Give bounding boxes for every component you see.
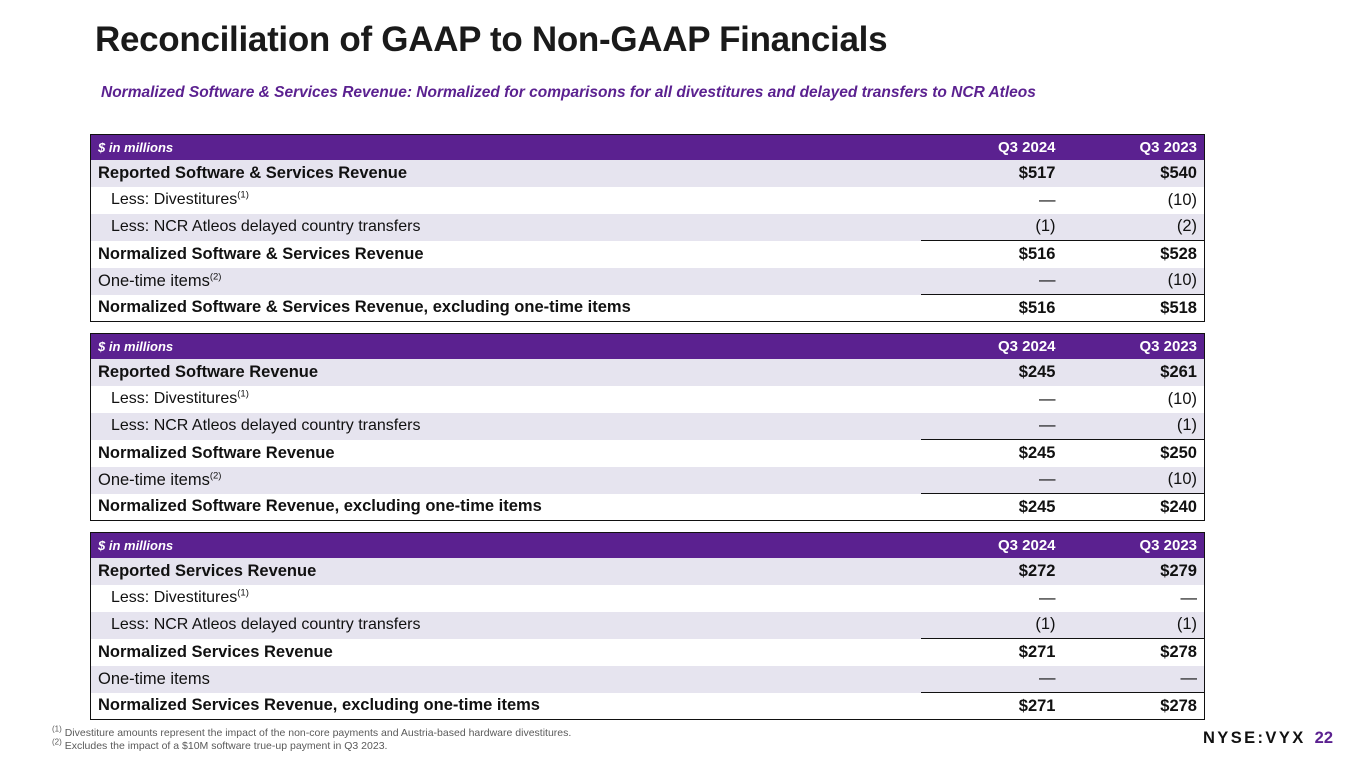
table-row: Reported Software Revenue$245$261 — [91, 359, 1205, 386]
table-unit-label: $ in millions — [91, 334, 921, 359]
row-value: (10) — [1063, 268, 1205, 295]
footnote-marker: (1) — [237, 588, 249, 599]
row-value: (1) — [921, 612, 1063, 639]
page-title: Reconciliation of GAAP to Non-GAAP Finan… — [95, 20, 887, 60]
table-header-row: $ in millionsQ3 2024Q3 2023 — [91, 533, 1205, 558]
row-label-text: Less: Divestitures — [111, 390, 237, 407]
row-value: $240 — [1063, 494, 1205, 521]
footnote-marker: (2) — [210, 271, 222, 282]
table-row: Less: NCR Atleos delayed country transfe… — [91, 214, 1205, 241]
row-label: Reported Services Revenue — [91, 558, 921, 585]
reconciliation-table: $ in millionsQ3 2024Q3 2023Reported Soft… — [90, 134, 1205, 322]
row-value: — — [921, 386, 1063, 413]
row-value: $245 — [921, 440, 1063, 467]
table-row: Normalized Software & Services Revenue$5… — [91, 241, 1205, 268]
row-value: $271 — [921, 693, 1063, 720]
row-label: Less: Divestitures(1) — [91, 386, 921, 413]
row-value: $278 — [1063, 639, 1205, 666]
row-value: $516 — [921, 295, 1063, 322]
row-label: One-time items — [91, 666, 921, 693]
row-label: Less: NCR Atleos delayed country transfe… — [91, 612, 921, 639]
footnote-marker: (1) — [237, 190, 249, 201]
row-value: $528 — [1063, 241, 1205, 268]
column-header: Q3 2023 — [1063, 334, 1205, 359]
row-label: Less: Divestitures(1) — [91, 187, 921, 214]
table-row: Less: Divestitures(1)—(10) — [91, 386, 1205, 413]
table-header-row: $ in millionsQ3 2024Q3 2023 — [91, 334, 1205, 359]
row-value: $271 — [921, 639, 1063, 666]
row-label: Reported Software & Services Revenue — [91, 160, 921, 187]
table-row: Normalized Services Revenue, excluding o… — [91, 693, 1205, 720]
row-value: — — [1063, 666, 1205, 693]
reconciliation-table: $ in millionsQ3 2024Q3 2023Reported Serv… — [90, 532, 1205, 720]
table-row: One-time items(2)—(10) — [91, 467, 1205, 494]
row-label: One-time items(2) — [91, 467, 921, 494]
row-label-text: Reported Software Revenue — [98, 363, 318, 381]
page-subtitle: Normalized Software & Services Revenue: … — [101, 84, 1036, 102]
column-header: Q3 2023 — [1063, 533, 1205, 558]
row-value: (1) — [1063, 413, 1205, 440]
row-value: — — [921, 187, 1063, 214]
row-label-text: Less: Divestitures — [111, 589, 237, 606]
slide-root: Reconciliation of GAAP to Non-GAAP Finan… — [0, 0, 1365, 768]
table-row: Reported Software & Services Revenue$517… — [91, 160, 1205, 187]
table-unit-label: $ in millions — [91, 533, 921, 558]
table-row: Less: NCR Atleos delayed country transfe… — [91, 413, 1205, 440]
column-header: Q3 2023 — [1063, 135, 1205, 160]
footnote-line: (1) Divestiture amounts represent the im… — [52, 727, 571, 740]
row-label-text: One-time items — [98, 670, 210, 688]
row-label-text: Normalized Services Revenue, excluding o… — [98, 696, 540, 714]
table-row: Normalized Services Revenue$271$278 — [91, 639, 1205, 666]
row-label-text: Reported Software & Services Revenue — [98, 164, 407, 182]
row-value: $245 — [921, 494, 1063, 521]
row-value: $517 — [921, 160, 1063, 187]
row-label-text: One-time items — [98, 471, 210, 489]
footnote-line: (2) Excludes the impact of a $10M softwa… — [52, 740, 571, 753]
row-label: Normalized Software & Services Revenue — [91, 241, 921, 268]
row-value: $245 — [921, 359, 1063, 386]
row-label: Reported Software Revenue — [91, 359, 921, 386]
footnote-marker: (1) — [237, 389, 249, 400]
row-value: $278 — [1063, 693, 1205, 720]
row-value: — — [921, 268, 1063, 295]
footnote-marker: (1) — [52, 725, 62, 734]
ticker-label: NYSE:VYX — [1203, 729, 1306, 747]
table-row: One-time items—— — [91, 666, 1205, 693]
row-label-text: Normalized Software & Services Revenue, … — [98, 298, 631, 316]
row-label-text: Normalized Services Revenue — [98, 643, 333, 661]
row-label: Normalized Software & Services Revenue, … — [91, 295, 921, 322]
row-value: (10) — [1063, 386, 1205, 413]
table-header-row: $ in millionsQ3 2024Q3 2023 — [91, 135, 1205, 160]
row-label: Normalized Software Revenue — [91, 440, 921, 467]
row-value: — — [921, 666, 1063, 693]
row-label-text: Reported Services Revenue — [98, 562, 316, 580]
reconciliation-table: $ in millionsQ3 2024Q3 2023Reported Soft… — [90, 333, 1205, 521]
row-label: Normalized Software Revenue, excluding o… — [91, 494, 921, 521]
footnotes: (1) Divestiture amounts represent the im… — [52, 727, 571, 754]
table-row: Less: Divestitures(1)—(10) — [91, 187, 1205, 214]
row-value: $516 — [921, 241, 1063, 268]
page-number: 22 — [1315, 729, 1333, 747]
reconciliation-tables: $ in millionsQ3 2024Q3 2023Reported Soft… — [90, 134, 1205, 720]
table-row: Normalized Software Revenue$245$250 — [91, 440, 1205, 467]
row-value: $540 — [1063, 160, 1205, 187]
row-value: (10) — [1063, 467, 1205, 494]
row-label-text: Less: Divestitures — [111, 191, 237, 208]
row-label-text: Less: NCR Atleos delayed country transfe… — [111, 218, 420, 235]
column-header: Q3 2024 — [921, 533, 1063, 558]
row-value: (2) — [1063, 214, 1205, 241]
row-value: (1) — [921, 214, 1063, 241]
row-label: Normalized Services Revenue, excluding o… — [91, 693, 921, 720]
table-row: Reported Services Revenue$272$279 — [91, 558, 1205, 585]
row-label-text: Less: NCR Atleos delayed country transfe… — [111, 616, 420, 633]
row-value: — — [921, 585, 1063, 612]
row-label: Less: NCR Atleos delayed country transfe… — [91, 413, 921, 440]
row-value: $518 — [1063, 295, 1205, 322]
column-header: Q3 2024 — [921, 334, 1063, 359]
row-value: $272 — [921, 558, 1063, 585]
row-label: Normalized Services Revenue — [91, 639, 921, 666]
row-value: (10) — [1063, 187, 1205, 214]
table-row: One-time items(2)—(10) — [91, 268, 1205, 295]
row-label-text: Normalized Software Revenue, excluding o… — [98, 497, 542, 515]
row-value: (1) — [1063, 612, 1205, 639]
table-unit-label: $ in millions — [91, 135, 921, 160]
column-header: Q3 2024 — [921, 135, 1063, 160]
row-value: $261 — [1063, 359, 1205, 386]
row-value: — — [921, 413, 1063, 440]
footnote-marker: (2) — [210, 470, 222, 481]
brand-footer: NYSE:VYX22 — [1203, 729, 1333, 748]
row-value: — — [1063, 585, 1205, 612]
footnote-text: Divestiture amounts represent the impact… — [65, 727, 572, 739]
table-row: Less: Divestitures(1)—— — [91, 585, 1205, 612]
row-label: Less: Divestitures(1) — [91, 585, 921, 612]
row-label-text: One-time items — [98, 272, 210, 290]
footnote-text: Excludes the impact of a $10M software t… — [65, 740, 388, 752]
row-label-text: Normalized Software & Services Revenue — [98, 245, 424, 263]
row-label-text: Less: NCR Atleos delayed country transfe… — [111, 417, 420, 434]
row-label-text: Normalized Software Revenue — [98, 444, 335, 462]
table-row: Normalized Software Revenue, excluding o… — [91, 494, 1205, 521]
footnote-marker: (2) — [52, 738, 62, 747]
table-row: Less: NCR Atleos delayed country transfe… — [91, 612, 1205, 639]
table-row: Normalized Software & Services Revenue, … — [91, 295, 1205, 322]
row-value: $279 — [1063, 558, 1205, 585]
row-label: One-time items(2) — [91, 268, 921, 295]
row-label: Less: NCR Atleos delayed country transfe… — [91, 214, 921, 241]
row-value: — — [921, 467, 1063, 494]
row-value: $250 — [1063, 440, 1205, 467]
